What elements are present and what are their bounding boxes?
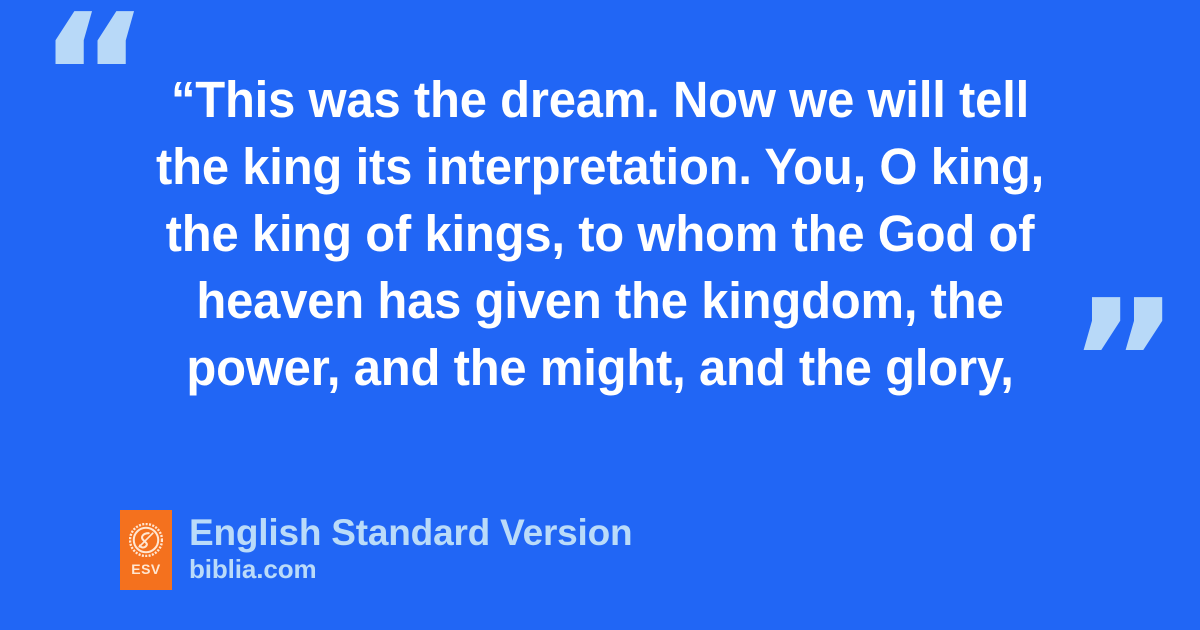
quote-card: “ “This was the dream. Now we will tell … [0, 0, 1200, 630]
quote-line: the king of kings, to whom the God of [24, 200, 1176, 267]
attribution: ESV English Standard Version biblia.com [120, 510, 632, 590]
quote-line: power, and the might, and the glory, [24, 334, 1176, 401]
esv-seal-icon [129, 523, 163, 557]
esv-logo-label: ESV [120, 561, 172, 577]
decorative-close-quote-icon: ” [1068, 278, 1180, 448]
quote-line: heaven has given the kingdom, the [24, 267, 1176, 334]
quote-line: “This was the dream. Now we will tell [24, 66, 1176, 133]
site-url[interactable]: biblia.com [189, 554, 632, 584]
bible-version-name: English Standard Version [189, 512, 632, 554]
attribution-text: English Standard Version biblia.com [189, 512, 632, 584]
esv-logo: ESV [120, 510, 172, 590]
quote-text-block: “This was the dream. Now we will tell th… [0, 66, 1200, 401]
quote-line: the king its interpretation. You, O king… [24, 133, 1176, 200]
